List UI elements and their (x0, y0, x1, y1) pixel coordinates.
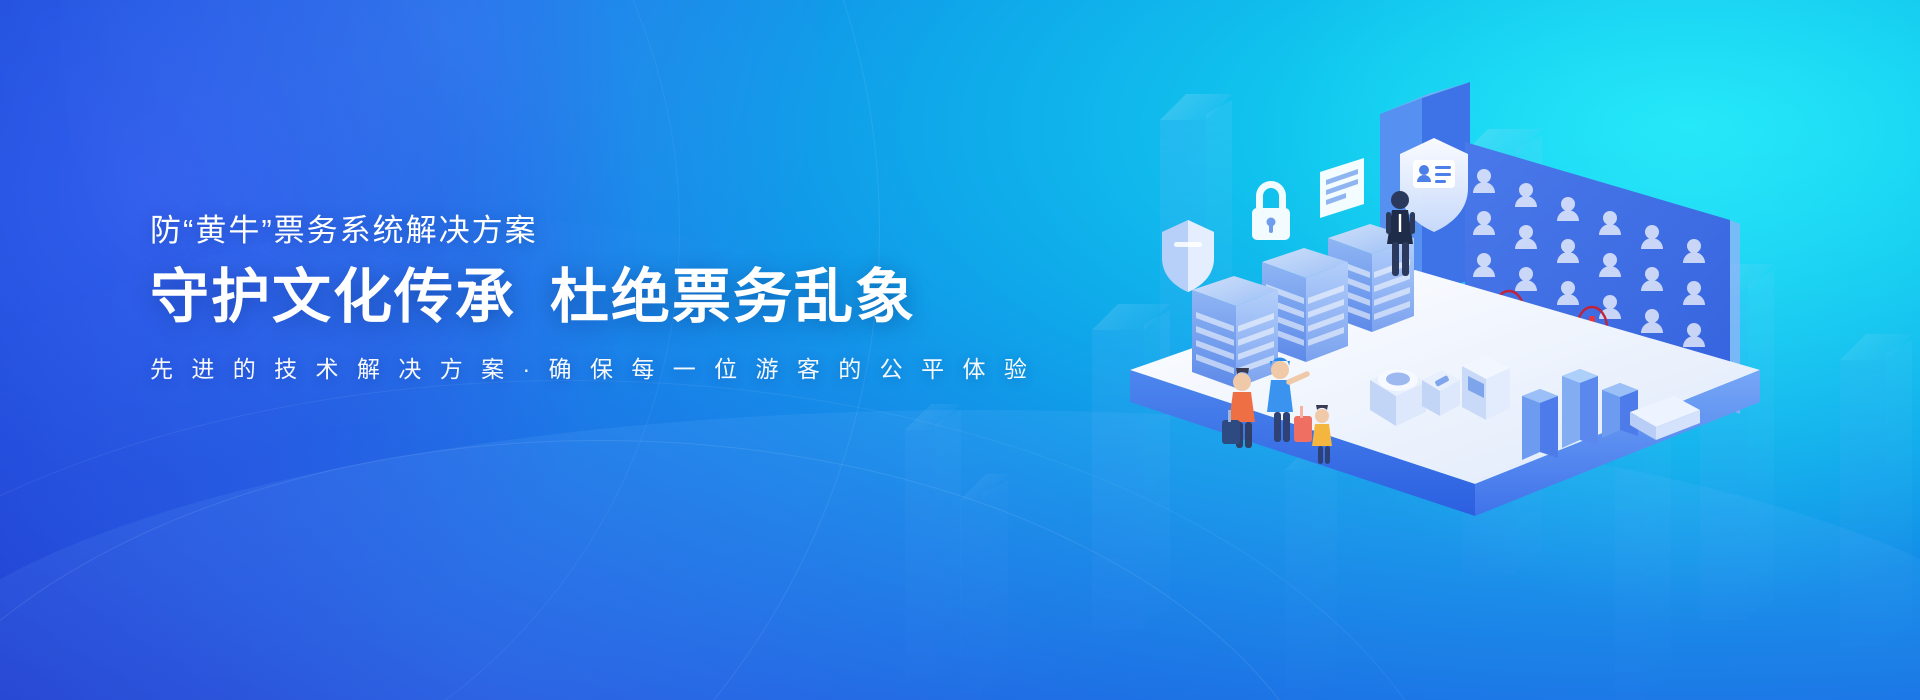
decorative-bar (960, 500, 982, 700)
lock-icon (1252, 181, 1290, 240)
server-rack-small (1192, 276, 1278, 388)
document-icon (1320, 158, 1364, 218)
headline-part-right: 杜绝票务乱象 (550, 264, 916, 330)
headline-part-left: 守护文化传承 (150, 264, 516, 330)
hero-headline: 守护文化传承杜绝票务乱象 (150, 263, 990, 333)
hero-illustration (1070, 80, 1830, 620)
shield-icon (1162, 220, 1214, 292)
decorative-bar (1840, 360, 1886, 650)
hero-banner: 防“黄牛”票务系统解决方案 守护文化传承杜绝票务乱象 先 进 的 技 术 解 决… (0, 0, 1920, 700)
ticket-kiosk[interactable] (1462, 356, 1510, 420)
hero-tagline: 先 进 的 技 术 解 决 方 案 · 确 保 每 一 位 游 客 的 公 平 … (150, 355, 990, 385)
decorative-bar (905, 430, 935, 680)
hero-kicker: 防“黄牛”票务系统解决方案 (150, 212, 990, 249)
hero-copy: 防“黄牛”票务系统解决方案 守护文化传承杜绝票务乱象 先 进 的 技 术 解 决… (150, 212, 990, 385)
